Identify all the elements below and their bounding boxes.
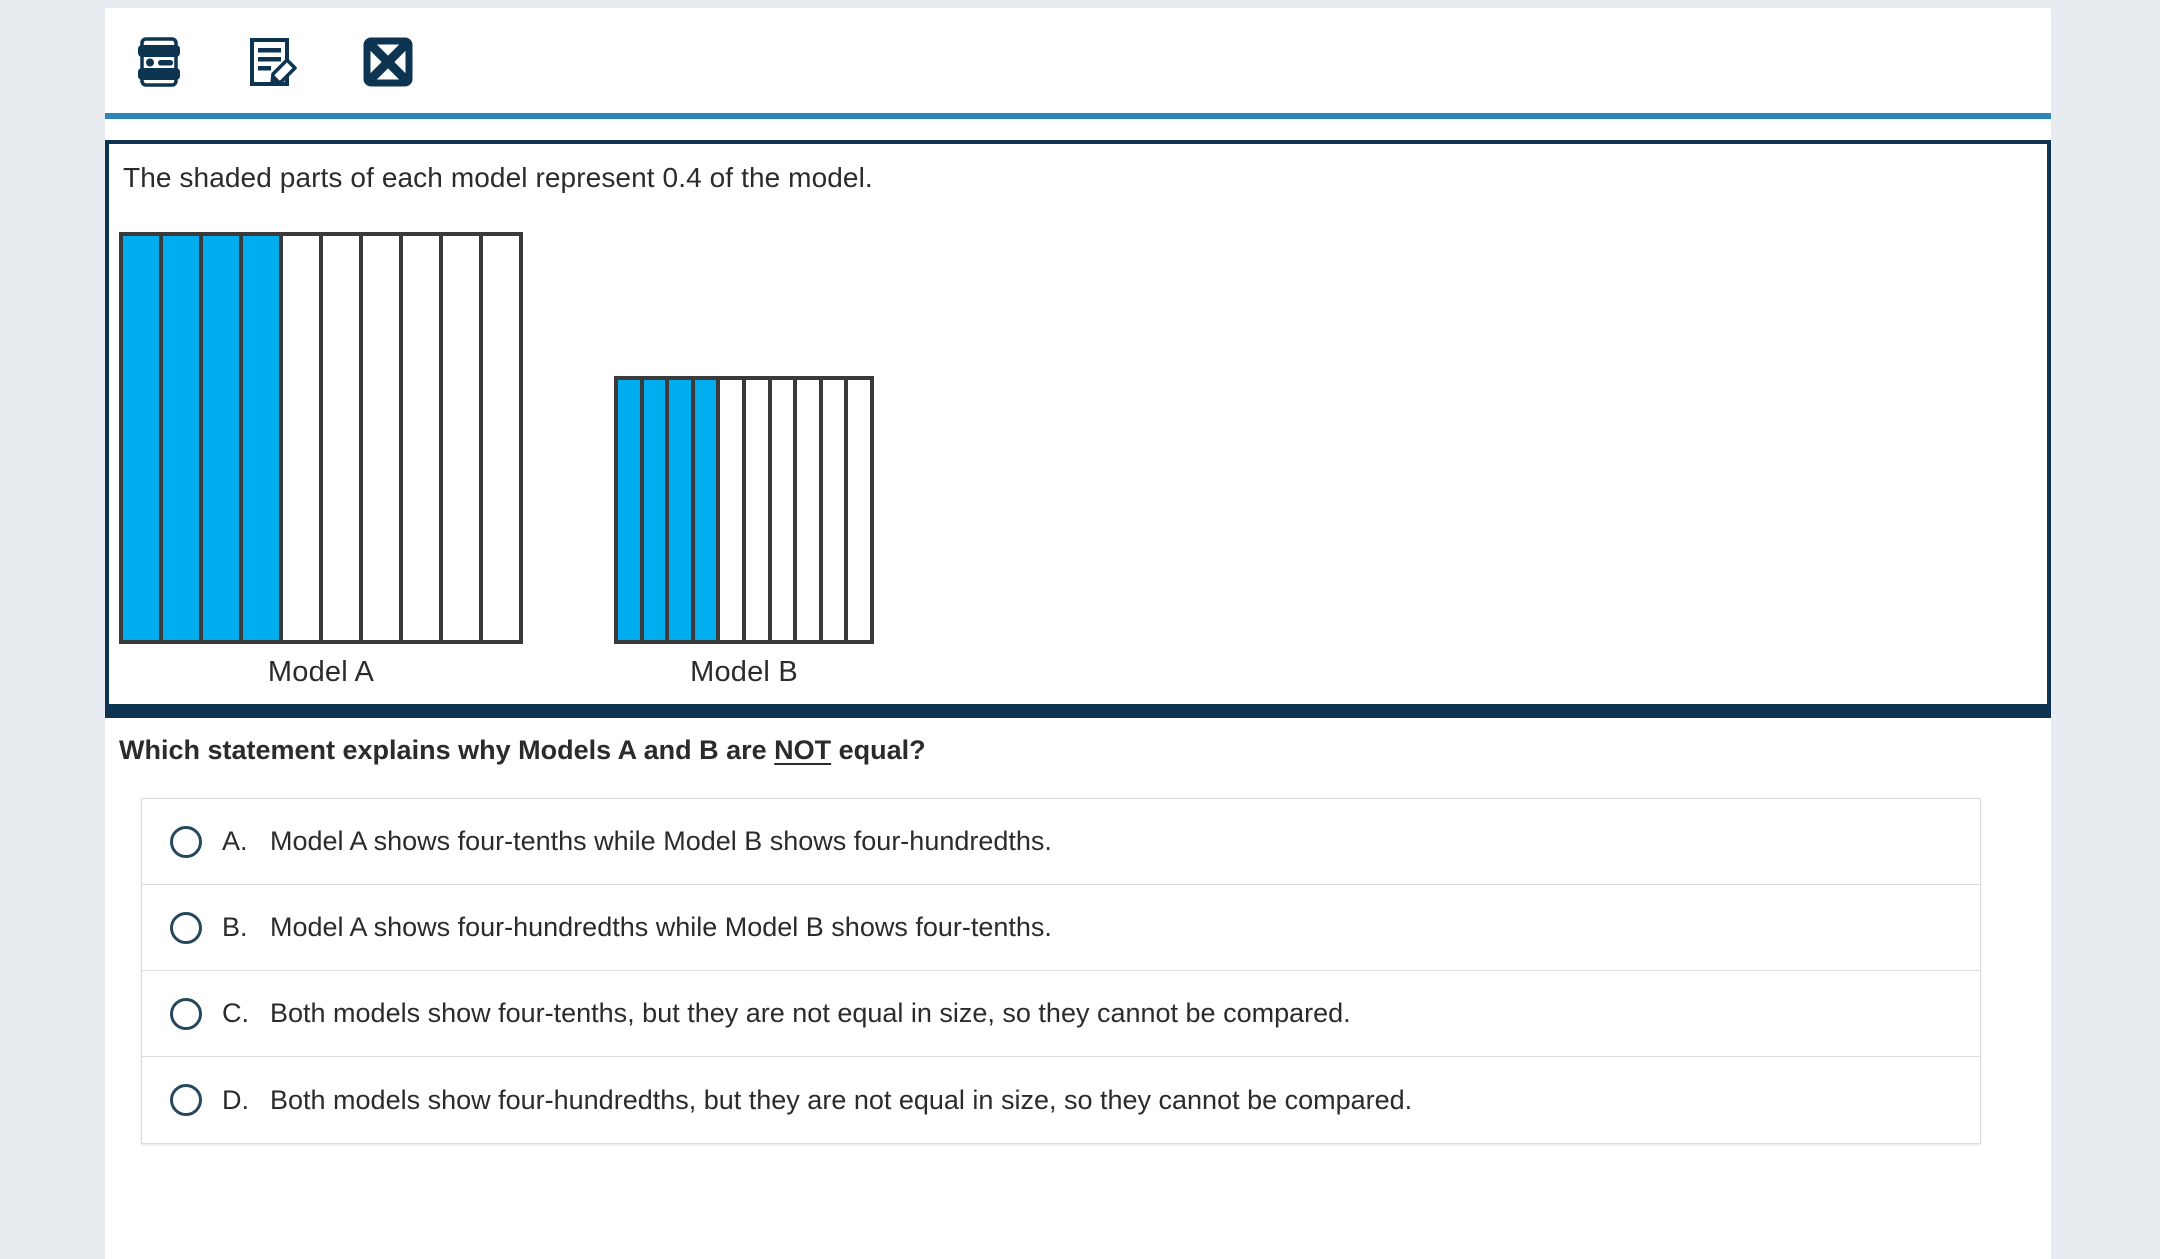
- radio-button-a[interactable]: [170, 826, 202, 858]
- model-a-label: Model A: [119, 656, 523, 689]
- question-prompt: Which statement explains why Models A an…: [119, 735, 926, 766]
- model-b-cell: [746, 380, 772, 640]
- option-d-text: Both models show four-hundredths, but th…: [270, 1085, 1412, 1116]
- model-b-cell: [695, 380, 721, 640]
- model-a-cell: [323, 236, 363, 640]
- model-b-cell: [772, 380, 798, 640]
- model-a-cell: [163, 236, 203, 640]
- question-text-after: equal?: [831, 735, 926, 765]
- content-panel: The shaded parts of each model represent…: [105, 8, 2051, 1259]
- model-a-cell: [403, 236, 443, 640]
- model-a-cell: [483, 236, 519, 640]
- stimulus-text: The shaded parts of each model represent…: [123, 162, 873, 194]
- option-b-letter: B.: [222, 912, 270, 943]
- option-d-letter: D.: [222, 1085, 270, 1116]
- option-a-text: Model A shows four-tenths while Model B …: [270, 826, 1052, 857]
- stimulus-panel: The shaded parts of each model represent…: [105, 140, 2051, 718]
- model-a-grid: [119, 232, 523, 644]
- question-emphasis: NOT: [774, 735, 831, 765]
- model-a-cell: [443, 236, 483, 640]
- model-b-label: Model B: [614, 656, 874, 689]
- option-a-letter: A.: [222, 826, 270, 857]
- model-a-cell: [203, 236, 243, 640]
- model-a-cell: [123, 236, 163, 640]
- option-c[interactable]: C. Both models show four-tenths, but the…: [142, 971, 1980, 1057]
- model-a-cell: [363, 236, 403, 640]
- answer-options: A. Model A shows four-tenths while Model…: [141, 798, 1981, 1144]
- radio-button-b[interactable]: [170, 912, 202, 944]
- model-b-cell: [720, 380, 746, 640]
- toolbar-divider: [105, 113, 2051, 119]
- option-b[interactable]: B. Model A shows four-hundredths while M…: [142, 885, 1980, 971]
- model-b-cell: [644, 380, 670, 640]
- question-toolbar: [105, 8, 2051, 113]
- model-a-cell: [243, 236, 283, 640]
- cross-out-icon[interactable]: [352, 30, 424, 94]
- option-c-letter: C.: [222, 998, 270, 1029]
- radio-button-d[interactable]: [170, 1084, 202, 1116]
- option-d[interactable]: D. Both models show four-hundredths, but…: [142, 1057, 1980, 1143]
- model-b-cell: [797, 380, 823, 640]
- notepad-pencil-icon[interactable]: [235, 30, 307, 94]
- calculator-icon[interactable]: [123, 30, 195, 94]
- option-c-text: Both models show four-tenths, but they a…: [270, 998, 1351, 1029]
- model-a-cell: [283, 236, 323, 640]
- question-text-before: Which statement explains why Models A an…: [119, 735, 774, 765]
- option-b-text: Model A shows four-hundredths while Mode…: [270, 912, 1052, 943]
- model-b: Model B: [614, 376, 874, 689]
- model-a: Model A: [119, 232, 523, 689]
- model-b-grid: [614, 376, 874, 644]
- model-b-cell: [823, 380, 849, 640]
- radio-button-c[interactable]: [170, 998, 202, 1030]
- model-b-cell: [669, 380, 695, 640]
- model-b-cell: [618, 380, 644, 640]
- model-b-cell: [848, 380, 870, 640]
- page-root: The shaded parts of each model represent…: [0, 0, 2160, 1259]
- option-a[interactable]: A. Model A shows four-tenths while Model…: [142, 799, 1980, 885]
